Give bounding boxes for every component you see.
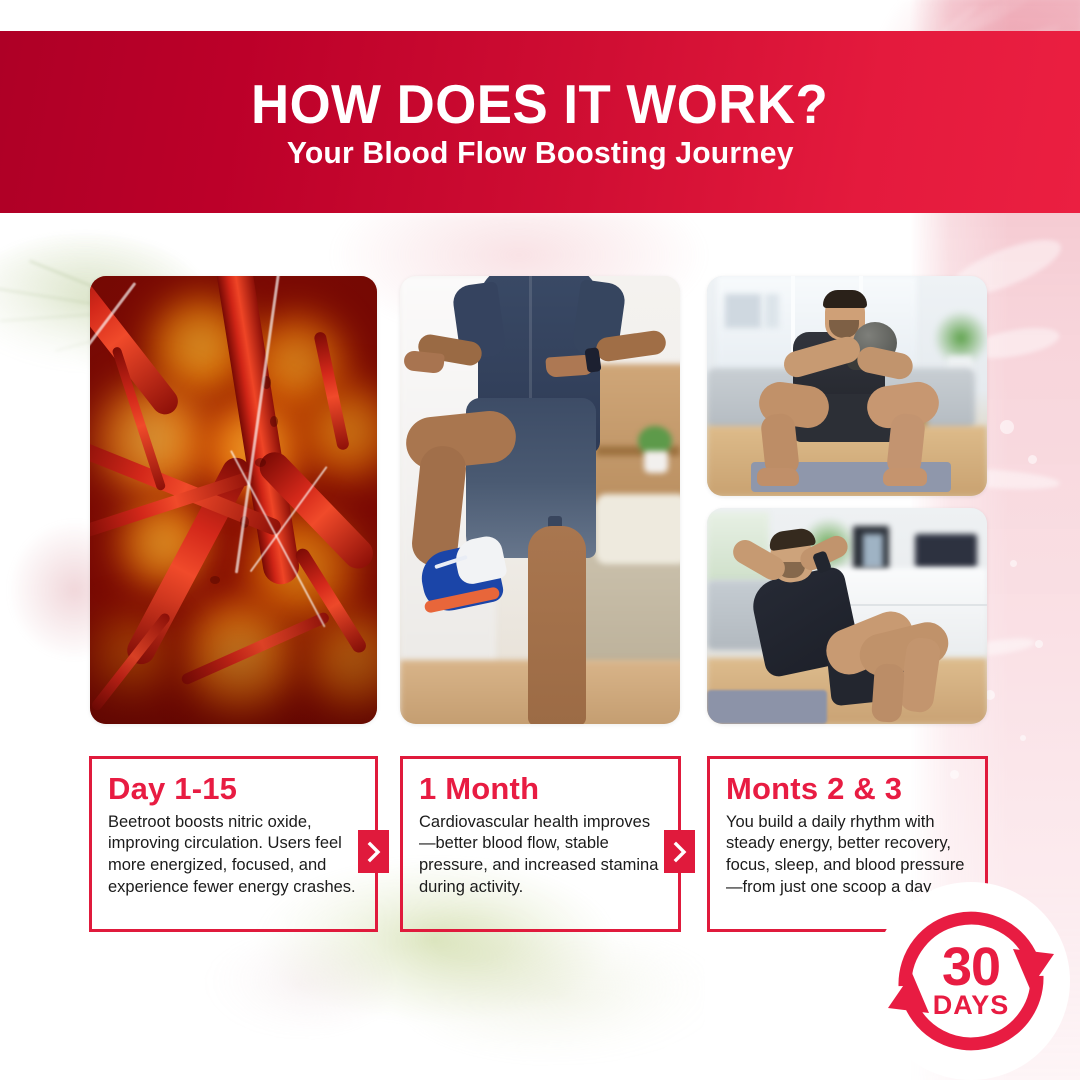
step-title: 1 Month — [419, 773, 662, 806]
step-card-1-month: 1 Month Cardiovascular health improves—b… — [400, 756, 681, 932]
header-banner: HOW DOES IT WORK? Your Blood Flow Boosti… — [0, 31, 1080, 213]
image-blood-vessel-microscopy — [90, 276, 377, 724]
step-title: Monts 2 & 3 — [726, 773, 969, 806]
thirty-days-badge: 30 DAYS — [872, 882, 1070, 1080]
page-subtitle: Your Blood Flow Boosting Journey — [287, 137, 794, 168]
step-title: Day 1-15 — [108, 773, 359, 806]
chevron-right-icon — [664, 830, 695, 873]
badge-unit: DAYS — [933, 992, 1010, 1019]
image-man-sit-ups — [707, 508, 987, 724]
chevron-right-icon — [358, 830, 389, 873]
page-title: HOW DOES IT WORK? — [251, 77, 828, 132]
image-man-high-knees-exercise — [400, 276, 680, 724]
step-card-day-1-15: Day 1-15 Beetroot boosts nitric oxide, i… — [89, 756, 378, 932]
image-man-kettlebell-goblet-squat — [707, 276, 987, 496]
step-body: Beetroot boosts nitric oxide, improving … — [108, 812, 359, 900]
badge-number: 30 — [933, 940, 1010, 994]
infographic-page: HOW DOES IT WORK? Your Blood Flow Boosti… — [0, 0, 1080, 1080]
step-body: Cardiovascular health improves—better bl… — [419, 812, 662, 900]
media-row — [0, 275, 1080, 725]
